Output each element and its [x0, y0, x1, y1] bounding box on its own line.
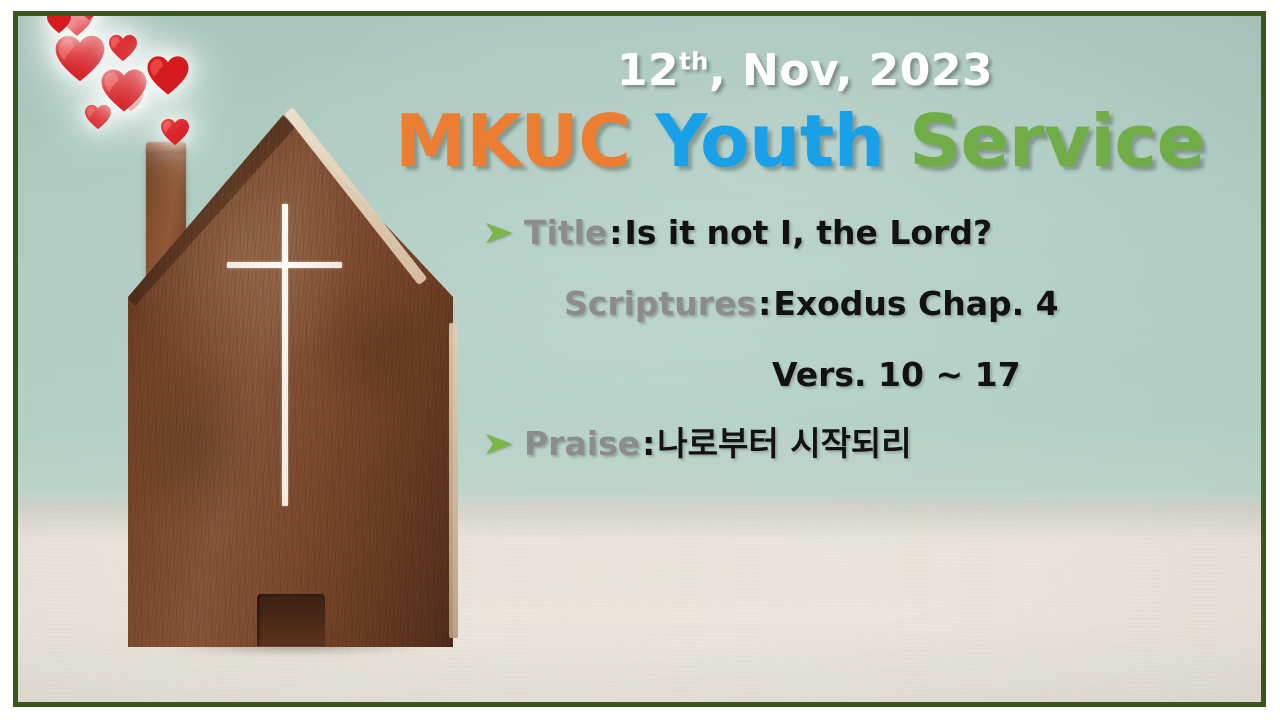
service-date-day: 12: [617, 45, 679, 96]
detail-row-title: Title : Is it not I, the Lord?: [484, 216, 1220, 249]
page-margin-top: [0, 0, 1280, 11]
detail-value-scriptures: Exodus Chap. 4: [773, 287, 1058, 320]
title-part-youth: Youth: [655, 99, 884, 183]
detail-value-praise: 나로부터 시작되리: [657, 427, 911, 460]
title-part-service: Service: [909, 99, 1205, 183]
detail-row-praise: Praise : 나로부터 시작되리: [484, 427, 1220, 460]
detail-label-praise: Praise: [524, 427, 640, 460]
slide-text-block: 12th, Nov, 2023 MKUC Youth Service Title…: [380, 48, 1220, 460]
arrow-bullet-icon: [484, 220, 520, 246]
page-margin-left: [0, 0, 13, 720]
detail-separator: :: [607, 216, 624, 249]
detail-value-verses: Vers. 10 ~ 17: [772, 358, 1021, 391]
service-date-rest: , Nov, 2023: [709, 45, 993, 96]
title-part-org: MKUC: [395, 99, 630, 183]
detail-label-title: Title: [524, 216, 607, 249]
detail-row-scriptures: Scriptures : Exodus Chap. 4: [484, 287, 1220, 320]
heart-icon: [160, 118, 190, 146]
page-title: MKUC Youth Service: [380, 98, 1220, 186]
heart-icon: [100, 68, 148, 113]
detail-label-scriptures: Scriptures: [564, 287, 756, 320]
heart-icon: [54, 34, 106, 83]
detail-row-verses: Vers. 10 ~ 17: [484, 358, 1220, 391]
heart-icon: [108, 34, 138, 62]
slide-canvas: 12th, Nov, 2023 MKUC Youth Service Title…: [0, 0, 1280, 720]
heart-icon: [146, 55, 190, 96]
detail-separator: :: [756, 287, 773, 320]
details-list: Title : Is it not I, the Lord? Scripture…: [380, 216, 1220, 460]
arrow-bullet-icon: [484, 431, 520, 457]
page-margin-right: [1266, 0, 1280, 720]
detail-separator: :: [640, 427, 657, 460]
service-date: 12th, Nov, 2023: [390, 48, 1220, 94]
service-date-ordinal: th: [679, 47, 709, 75]
heart-icon: [46, 10, 72, 34]
detail-value-title: Is it not I, the Lord?: [625, 216, 993, 249]
page-margin-bottom: [0, 707, 1280, 720]
